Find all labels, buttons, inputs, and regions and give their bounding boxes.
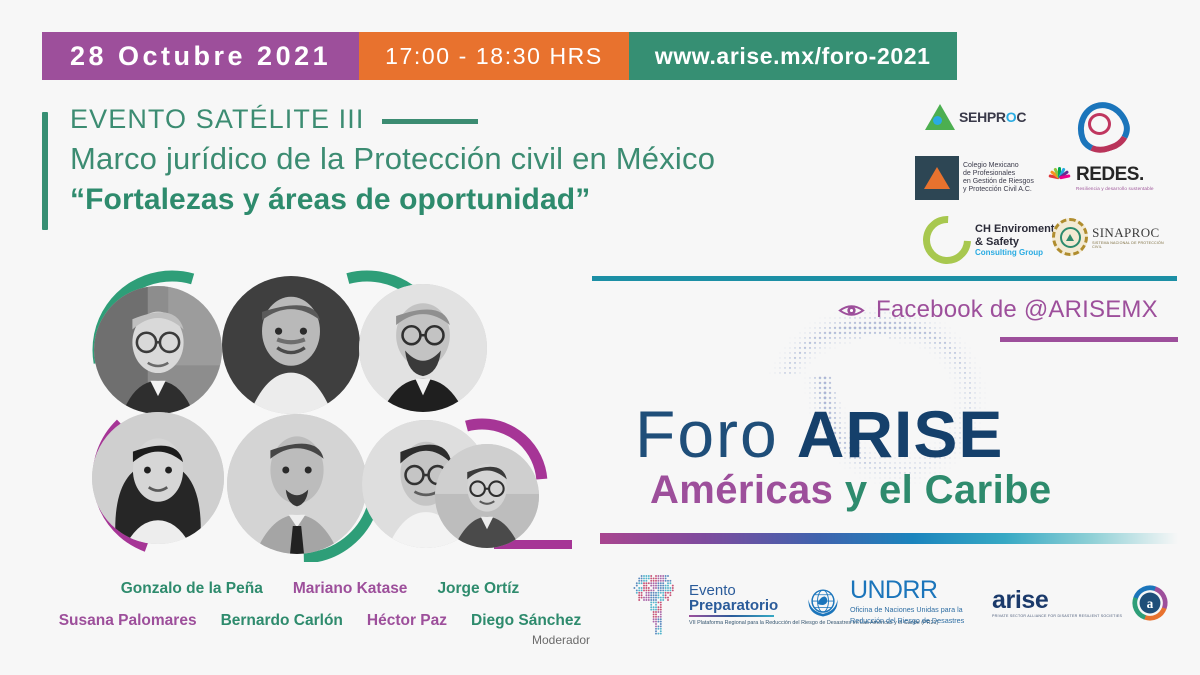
arise-wordmark: arise xyxy=(992,588,1122,613)
portrait-diego xyxy=(435,444,539,548)
sponsor-spiral xyxy=(1075,100,1119,142)
dotted-americas-map-icon xyxy=(630,574,682,636)
event-headline: Marco jurídico de la Protección civil en… xyxy=(70,141,922,177)
speaker-name: Mariano Katase xyxy=(293,580,408,598)
facebook-label: Facebook de @ARISEMX xyxy=(876,296,1158,324)
sponsor-colegio-mexicano: Colegio Mexicano de Profesionales en Ges… xyxy=(915,156,1034,200)
green-triangle-person-icon xyxy=(925,104,955,130)
title-block: EVENTO SATÉLITE III Marco jurídico de la… xyxy=(42,104,922,217)
svg-text:a: a xyxy=(1147,596,1154,611)
portrait-gonzalo xyxy=(94,286,222,414)
header-bar: 28 Octubre 2021 17:00 - 18:30 HRS www.ar… xyxy=(42,32,957,80)
portrait-jorge xyxy=(359,284,487,412)
speaker-photo-3 xyxy=(359,284,487,412)
speaker-row-2: Susana Palomares Bernardo Carlón Héctor … xyxy=(40,612,600,630)
portrait-mariano xyxy=(222,276,360,414)
speaker-row-1: Gonzalo de la Peña Mariano Katase Jorge … xyxy=(40,580,600,598)
speaker-photo-2 xyxy=(222,276,360,414)
sponsor-ch-line2: & Safety xyxy=(975,236,1054,248)
brand-region-caribe: y el Caribe xyxy=(845,468,1052,512)
sponsor-sinaproc-subtitle: SISTEMA NACIONAL DE PROTECCIÓN CIVIL xyxy=(1092,241,1170,249)
event-url[interactable]: www.arise.mx/foro-2021 xyxy=(629,32,957,80)
gradient-bar xyxy=(600,533,1178,544)
un-emblem-icon xyxy=(803,582,843,622)
event-time: 17:00 - 18:30 HRS xyxy=(359,32,629,80)
speaker-name: Susana Palomares xyxy=(59,612,197,630)
speaker-photo-7 xyxy=(435,444,539,548)
brand-region: Américas y el Caribe xyxy=(650,468,1052,513)
sponsor-sinaproc: SINAPROC SISTEMA NACIONAL DE PROTECCIÓN … xyxy=(1052,218,1170,256)
undrr-name: UNDRR xyxy=(850,578,964,603)
sponsor-ch-line3: Consulting Group xyxy=(975,248,1054,257)
sponsor-ch-line1: CH Enviroment xyxy=(975,223,1054,235)
speaker-name: Jorge Ortíz xyxy=(437,580,519,598)
sponsor-sehproc-label: SEHPROC xyxy=(959,109,1026,125)
speaker-name: Héctor Paz xyxy=(367,612,447,630)
sponsor-sehproc: SEHPROC xyxy=(925,104,1026,130)
title-rule xyxy=(382,119,478,124)
sponsor-colegio-label: Colegio Mexicano de Profesionales en Ges… xyxy=(963,162,1034,195)
facebook-link[interactable]: Facebook de @ARISEMX xyxy=(838,296,1158,324)
sponsor-redes: REDES. Resiliencia y desarrollo sustenta… xyxy=(1048,164,1154,191)
speaker-photo-5 xyxy=(227,414,367,554)
title-accent-bar xyxy=(42,112,48,230)
evento-rule xyxy=(689,615,774,617)
speaker-photo-4 xyxy=(92,412,224,544)
blue-spiral-icon xyxy=(1075,100,1119,142)
footer-logo-row: Evento Preparatorio VII Plataforma Regio… xyxy=(620,560,1180,655)
event-eyebrow: EVENTO SATÉLITE III xyxy=(70,104,364,135)
brand-arise: ARISE xyxy=(797,396,1004,472)
event-flyer: 28 Octubre 2021 17:00 - 18:30 HRS www.ar… xyxy=(0,0,1200,675)
logo-arise: arise PRIVATE SECTOR ALLIANCE FOR DISAST… xyxy=(992,584,1169,622)
portrait-bernardo xyxy=(227,414,367,554)
gold-seal-icon xyxy=(1052,218,1088,256)
sponsor-redes-label: REDES. xyxy=(1076,164,1154,186)
brand-foro-arise: Foro ARISE xyxy=(635,396,1003,472)
speaker-name-moderator: Diego Sánchez xyxy=(471,612,581,630)
brand-foro: Foro xyxy=(635,396,779,472)
speaker-names: Gonzalo de la Peña Mariano Katase Jorge … xyxy=(40,580,600,647)
logo-undrr: UNDRR Oficina de Naciones Unidas para la… xyxy=(803,578,964,626)
speaker-name: Gonzalo de la Peña xyxy=(121,580,263,598)
arise-tagline: PRIVATE SECTOR ALLIANCE FOR DISASTER RES… xyxy=(992,614,1122,618)
sponsor-logo-grid: SEHPROC Colegio Mexicano de Profesionale… xyxy=(915,100,1170,260)
speaker-photo-cluster xyxy=(62,262,582,562)
undrr-sub2: Reducción del Riesgo de Desastres xyxy=(850,616,964,625)
orange-pyramid-icon xyxy=(915,156,959,200)
speaker-name: Bernardo Carlón xyxy=(221,612,343,630)
purple-divider-rule xyxy=(1000,337,1178,342)
event-subhead: “Fortalezas y áreas de oportunidad” xyxy=(70,183,922,217)
eye-icon xyxy=(838,302,865,319)
event-date: 28 Octubre 2021 xyxy=(42,32,359,80)
portrait-susana xyxy=(92,412,224,544)
arise-ring-icon: a xyxy=(1131,584,1169,622)
undrr-sub1: Oficina de Naciones Unidas para la xyxy=(850,605,964,614)
brand-region-americas: Américas xyxy=(650,468,833,512)
colored-burst-icon xyxy=(1048,166,1072,190)
sponsor-redes-subtitle: Resiliencia y desarrollo sustentable xyxy=(1076,186,1154,191)
sponsor-sinaproc-label: SINAPROC xyxy=(1092,225,1170,241)
speaker-photo-1 xyxy=(94,286,222,414)
sponsor-ch-enviroment: CH Enviroment & Safety Consulting Group xyxy=(923,216,1054,264)
moderator-label: Moderador xyxy=(40,633,600,647)
